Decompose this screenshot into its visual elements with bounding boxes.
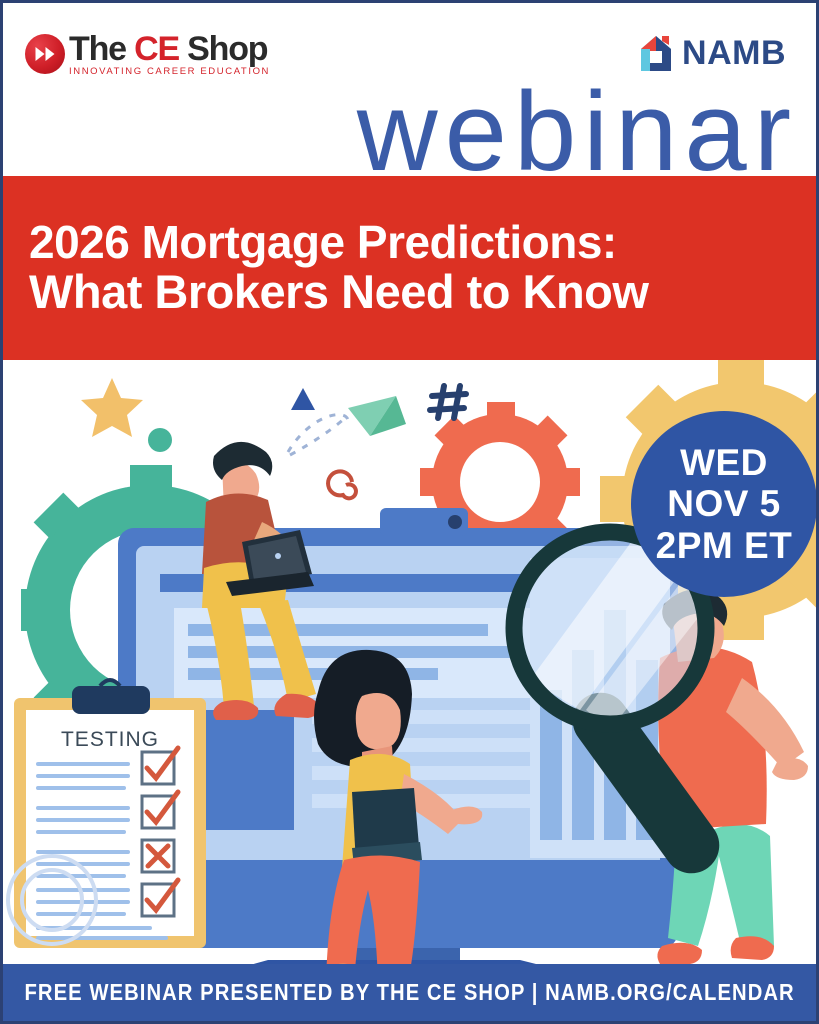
double-chevron-icon bbox=[25, 34, 65, 74]
webinar-poster: The CE Shop INNOVATING CAREER EDUCATION … bbox=[0, 0, 819, 1024]
poster-header: The CE Shop INNOVATING CAREER EDUCATION … bbox=[3, 3, 816, 176]
footer-text: FREE WEBINAR PRESENTED BY THE CE SHOP | … bbox=[24, 979, 794, 1006]
badge-date: NOV 5 bbox=[667, 483, 781, 524]
badge-time: 2PM ET bbox=[656, 525, 793, 566]
ceshop-name-ce: CE bbox=[134, 30, 187, 68]
ceshop-name-the: The bbox=[69, 30, 134, 68]
ceshop-name-shop: Shop bbox=[187, 30, 267, 68]
svg-text:TESTING: TESTING bbox=[61, 728, 159, 751]
webinar-heading: webinar bbox=[357, 76, 798, 188]
title-line-2: What Brokers Need to Know bbox=[29, 267, 796, 318]
clipboard-testing: TESTING bbox=[8, 680, 206, 948]
title-line-1: 2026 Mortgage Predictions: bbox=[29, 218, 796, 268]
badge-day: WED bbox=[680, 442, 768, 483]
ceshop-tagline: INNOVATING CAREER EDUCATION bbox=[69, 67, 270, 77]
house-icon bbox=[638, 33, 674, 73]
footer-bar: FREE WEBINAR PRESENTED BY THE CE SHOP | … bbox=[3, 964, 816, 1021]
ceshop-name: The CE Shop bbox=[69, 32, 270, 66]
date-badge: WED NOV 5 2PM ET bbox=[631, 411, 817, 597]
namb-logo: NAMB bbox=[638, 33, 786, 73]
title-banner: 2026 Mortgage Predictions: What Brokers … bbox=[3, 176, 816, 360]
ceshop-wordmark: The CE Shop INNOVATING CAREER EDUCATION bbox=[69, 32, 270, 77]
namb-wordmark: NAMB bbox=[682, 34, 786, 73]
ceshop-logo: The CE Shop INNOVATING CAREER EDUCATION bbox=[25, 32, 270, 77]
